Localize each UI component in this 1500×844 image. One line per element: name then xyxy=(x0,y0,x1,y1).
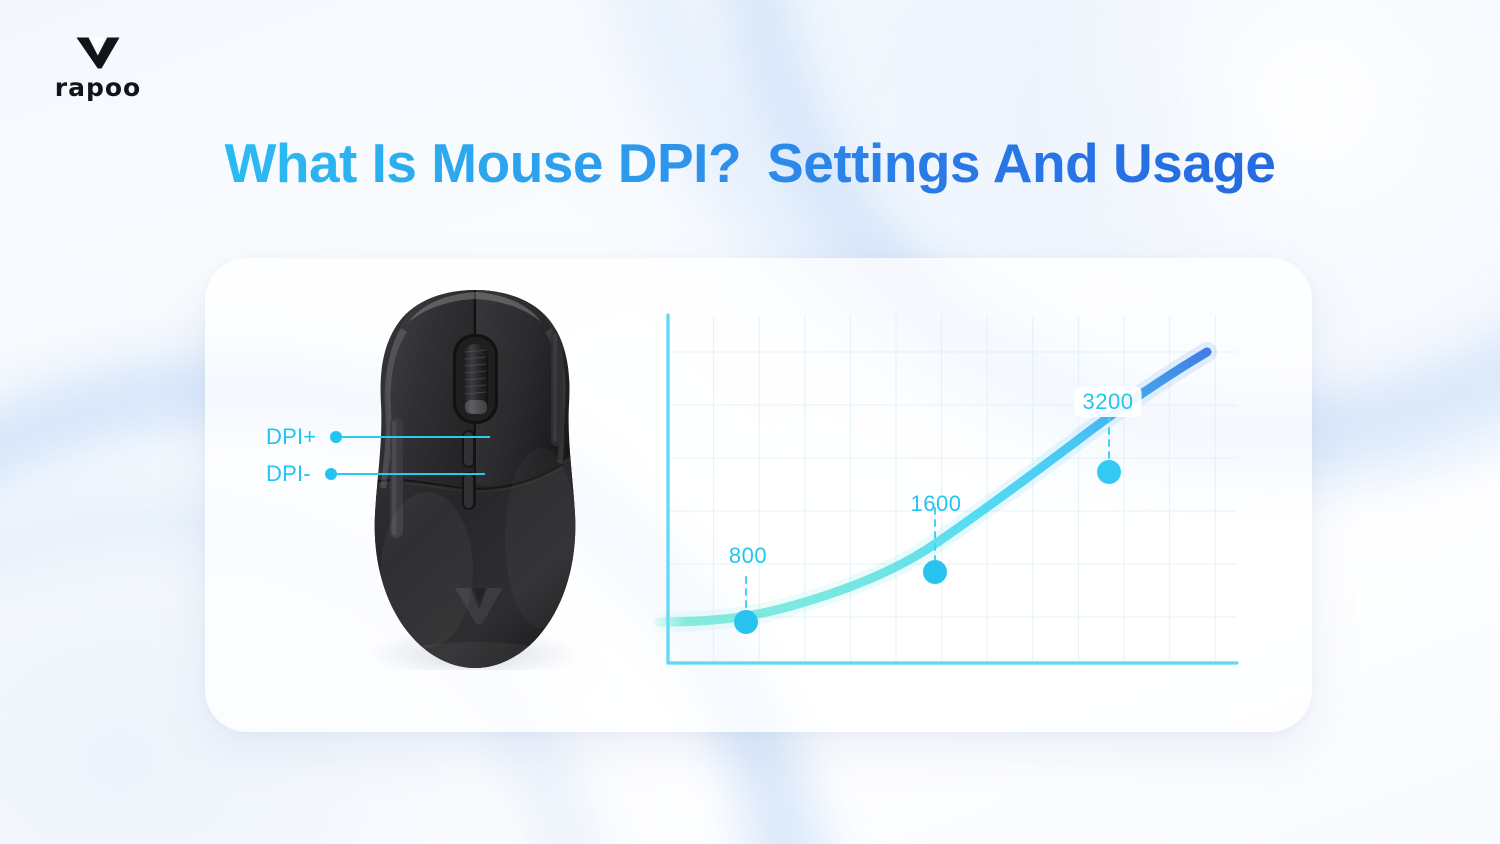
page-title-part-2: Settings And Usage xyxy=(767,132,1275,194)
brand-wordmark: rapoo xyxy=(55,75,141,100)
data-point-800[interactable] xyxy=(734,610,758,634)
callout-dpi-minus-dot xyxy=(325,468,337,480)
data-label-800: 800 xyxy=(729,545,767,567)
data-point-1600[interactable] xyxy=(923,560,947,584)
page-title: What Is Mouse DPI?Settings And Usage xyxy=(0,133,1500,195)
callout-dpi-plus: DPI+ xyxy=(266,426,490,448)
callout-dpi-plus-line xyxy=(342,436,490,438)
slide-canvas: rapoo What Is Mouse DPI?Settings And Usa… xyxy=(0,0,1500,844)
data-label-1600: 1600 xyxy=(911,493,962,515)
callout-dpi-minus-line xyxy=(337,473,485,475)
callout-dpi-minus-label: DPI- xyxy=(266,463,311,485)
callout-dpi-minus: DPI- xyxy=(266,463,485,485)
data-point-3200[interactable] xyxy=(1097,460,1121,484)
rapoo-v-mark-icon xyxy=(75,36,121,70)
callout-dpi-plus-label: DPI+ xyxy=(266,426,316,448)
chart-svg xyxy=(650,300,1250,680)
brand-logo: rapoo xyxy=(38,36,158,110)
dpi-sensitivity-chart: 800 1600 3200 xyxy=(650,300,1250,680)
data-label-3200: 3200 xyxy=(1075,387,1142,417)
page-title-part-1: What Is Mouse DPI? xyxy=(224,132,741,194)
callout-dpi-plus-dot xyxy=(330,431,342,443)
